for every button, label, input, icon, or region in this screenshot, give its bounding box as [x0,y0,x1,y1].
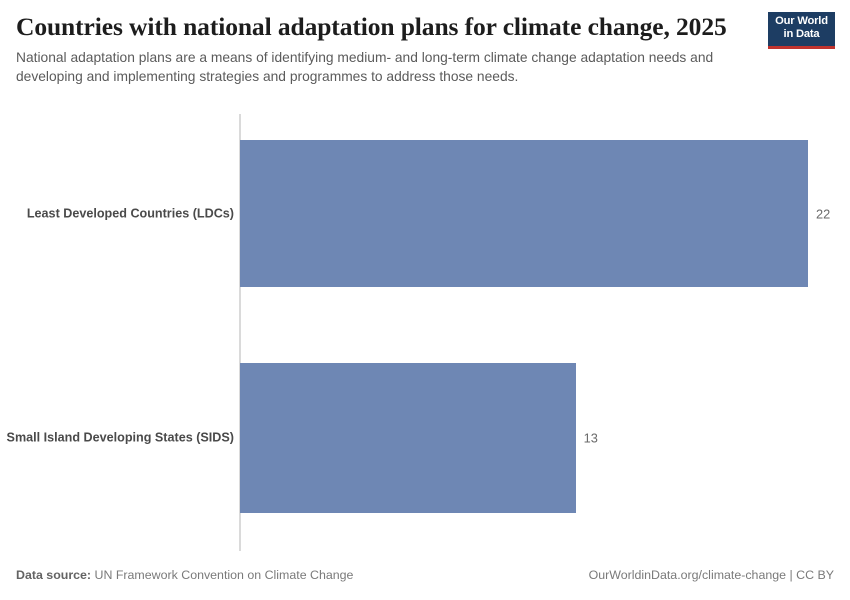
data-source-label: Data source: [16,568,91,582]
bar-value-label: 13 [584,431,598,446]
chart-footer: Data source: UN Framework Convention on … [16,568,834,588]
bar-rect[interactable] [240,363,576,513]
bar-row-sids[interactable]: Small Island Developing States (SIDS) 13 [0,363,850,513]
attribution-link[interactable]: OurWorldinData.org/climate-change | CC B… [589,568,834,582]
data-source: Data source: UN Framework Convention on … [16,568,353,582]
bar-category-label: Least Developed Countries (LDCs) [27,206,234,221]
bar-value-label: 22 [816,206,830,221]
bar-row-ldcs[interactable]: Least Developed Countries (LDCs) 22 [0,140,850,287]
bar-category-label: Small Island Developing States (SIDS) [7,431,234,446]
bar-rect[interactable] [240,140,808,287]
data-source-value: UN Framework Convention on Climate Chang… [91,568,353,582]
bar-chart-plot-area: Least Developed Countries (LDCs) 22 Smal… [0,0,850,600]
